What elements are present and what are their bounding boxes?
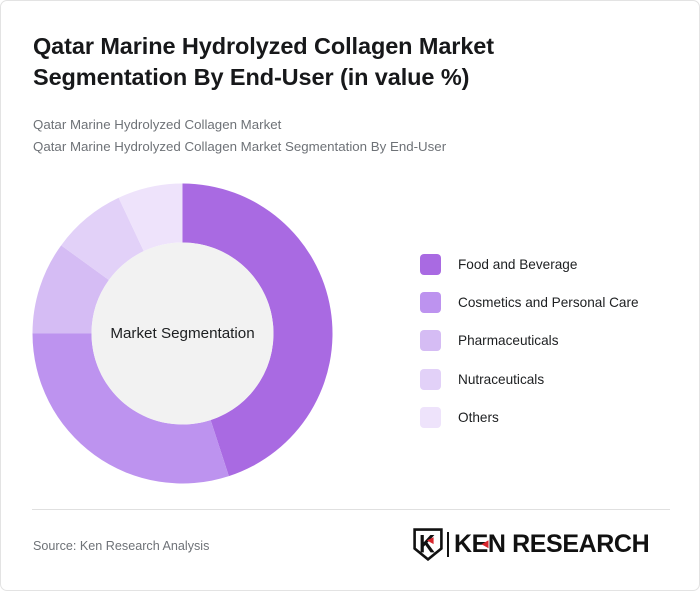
legend-color-swatch — [420, 254, 441, 275]
legend-item[interactable]: Food and Beverage — [420, 245, 639, 283]
chart-card: Qatar Marine Hydrolyzed Collagen Market … — [0, 0, 700, 591]
source-note: Source: Ken Research Analysis — [33, 539, 209, 553]
donut-svg — [32, 183, 333, 484]
legend-item-label: Food and Beverage — [458, 257, 577, 272]
logo-wordmark-svg: KEN RESEARCH — [454, 531, 669, 558]
legend-item-label: Others — [458, 410, 499, 425]
ken-research-shield-icon — [413, 528, 443, 561]
ken-research-logo: KEN RESEARCH — [413, 527, 669, 561]
legend-item[interactable]: Cosmetics and Personal Care — [420, 283, 639, 321]
legend-item-label: Pharmaceuticals — [458, 333, 559, 348]
legend-color-swatch — [420, 292, 441, 313]
legend-color-swatch — [420, 407, 441, 428]
legend-item[interactable]: Others — [420, 399, 639, 437]
legend-item[interactable]: Pharmaceuticals — [420, 322, 639, 360]
legend-item-label: Cosmetics and Personal Care — [458, 295, 639, 310]
legend-item-label: Nutraceuticals — [458, 372, 544, 387]
logo-wordmark: KEN RESEARCH — [454, 531, 669, 558]
legend-color-swatch — [420, 330, 441, 351]
legend-color-swatch — [420, 369, 441, 390]
legend-item[interactable]: Nutraceuticals — [420, 360, 639, 398]
logo-divider — [447, 532, 449, 557]
donut-chart: Market Segmentation — [32, 183, 333, 484]
footer-divider — [32, 509, 670, 510]
donut-hole — [92, 243, 274, 425]
chart-area: Market Segmentation Food and BeverageCos… — [1, 1, 700, 591]
chart-legend: Food and BeverageCosmetics and Personal … — [420, 245, 639, 437]
